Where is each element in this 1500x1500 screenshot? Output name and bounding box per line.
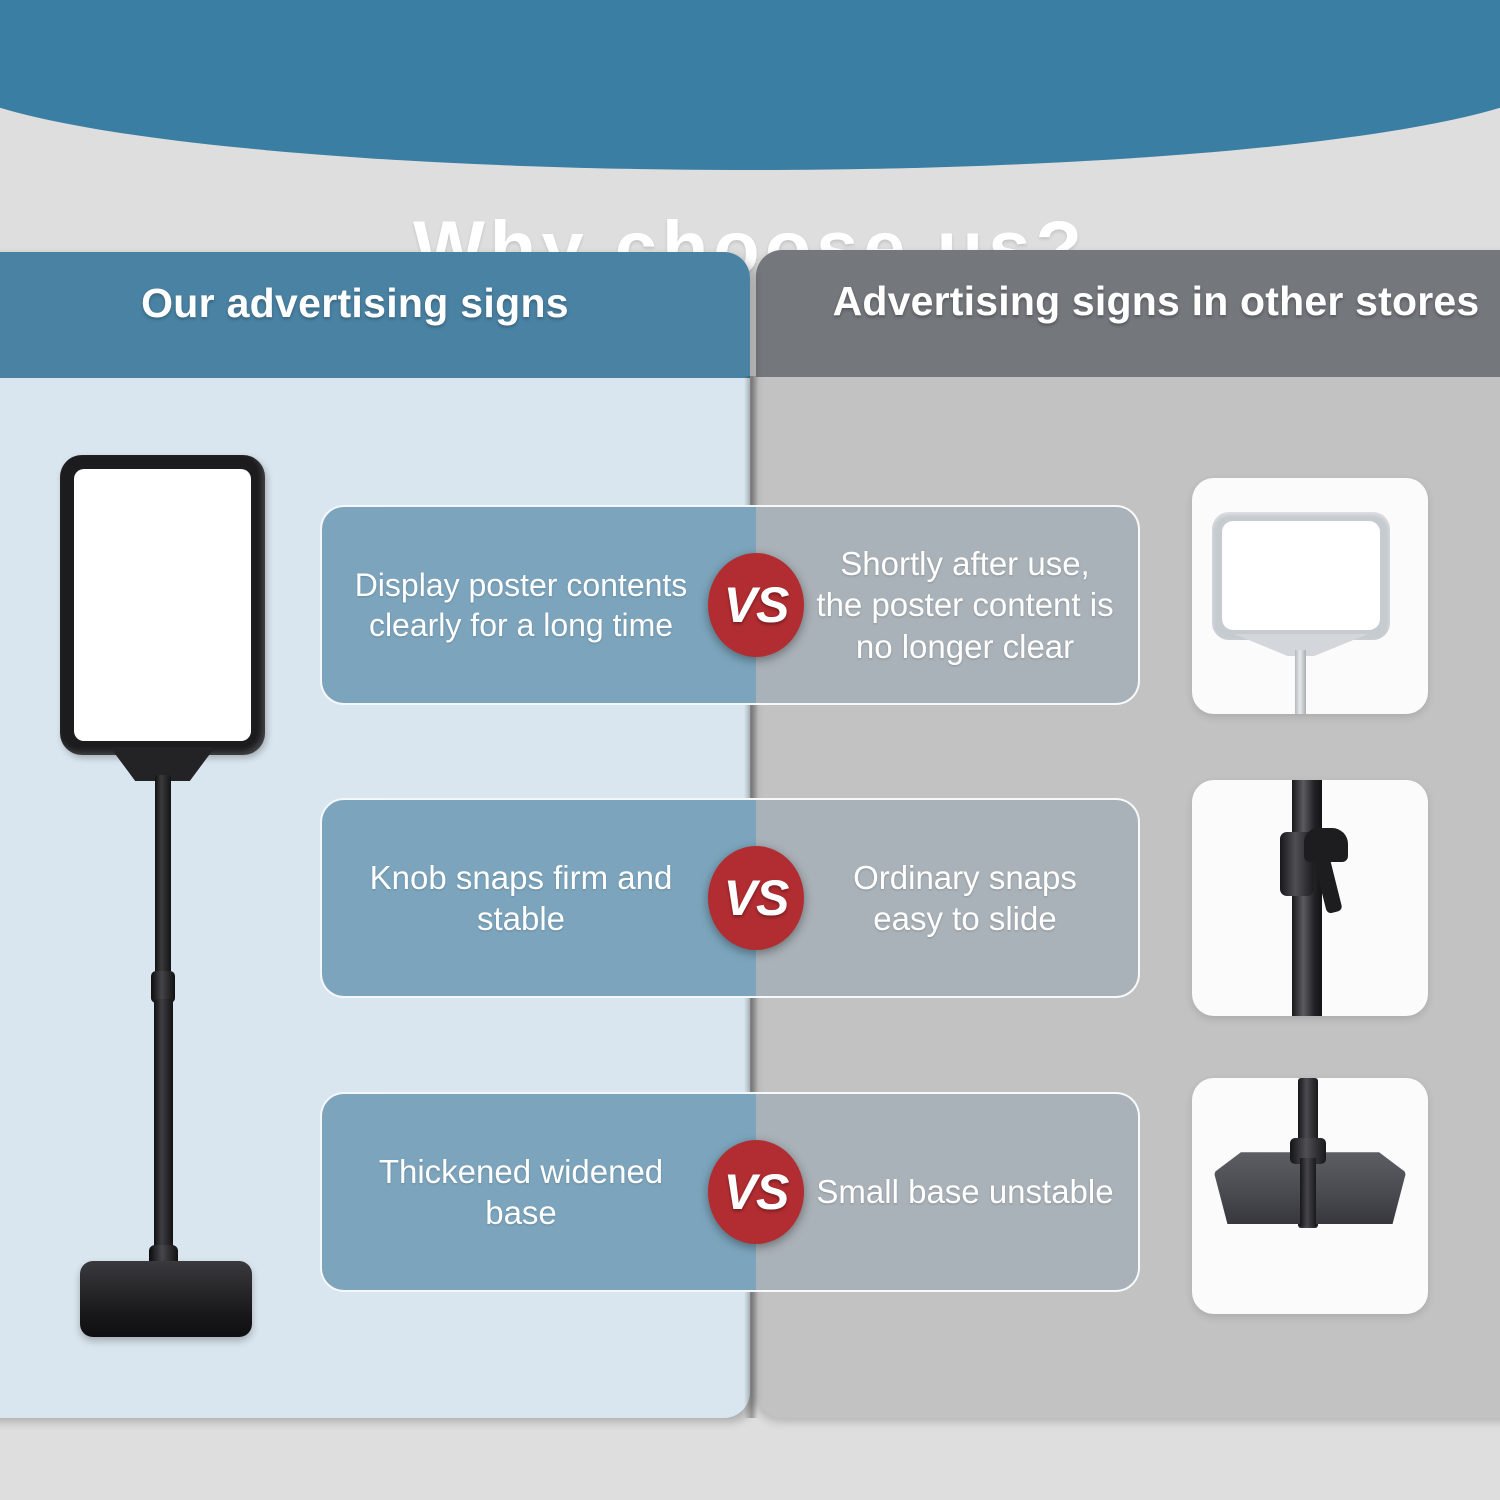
vs-label: VS: [724, 1163, 789, 1221]
other-drawback-text: Shortly after use, the poster content is…: [814, 543, 1116, 667]
other-drawback-card: Small base unstable: [756, 1092, 1140, 1292]
comparison-row: Display poster contents clearly for a lo…: [320, 505, 1140, 705]
other-base-thumbnail: [1192, 1078, 1428, 1314]
other-sign-frame: [1212, 512, 1390, 640]
comparison-row: Thickened widened base Small base unstab…: [320, 1092, 1140, 1292]
vs-badge: VS: [708, 553, 804, 657]
vs-label: VS: [724, 869, 789, 927]
sign-frame: [60, 455, 265, 755]
vs-badge: VS: [708, 1140, 804, 1244]
pole-lower-section: [154, 999, 173, 1267]
column-other-stores-title: Advertising signs in other stores: [776, 278, 1500, 325]
our-benefit-card: Thickened widened base: [320, 1092, 756, 1292]
wide-base-plate: [80, 1261, 252, 1337]
vs-badge: VS: [708, 846, 804, 950]
comparison-row: Knob snaps firm and stable Ordinary snap…: [320, 798, 1140, 998]
other-sign-frame-thumbnail: [1192, 478, 1428, 714]
other-drawback-card: Shortly after use, the poster content is…: [756, 505, 1140, 705]
other-base-pole-front: [1300, 1158, 1316, 1226]
our-benefit-text: Thickened widened base: [344, 1151, 698, 1234]
product-stand-illustration: [35, 455, 285, 1335]
column-our-signs-header: Our advertising signs: [0, 252, 750, 378]
vs-label: VS: [724, 576, 789, 634]
our-benefit-text: Knob snaps firm and stable: [344, 857, 698, 940]
other-drawback-card: Ordinary snaps easy to slide: [756, 798, 1140, 998]
other-drawback-text: Ordinary snaps easy to slide: [814, 857, 1116, 940]
other-clamp-thumbnail: [1192, 780, 1428, 1016]
other-pole: [1295, 650, 1306, 714]
column-our-signs-title: Our advertising signs: [0, 280, 710, 327]
header-band: [0, 0, 1500, 170]
other-pole-shaft: [1292, 780, 1322, 1016]
other-poster-insert: [1222, 521, 1380, 630]
our-benefit-card: Knob snaps firm and stable: [320, 798, 756, 998]
our-benefit-text: Display poster contents clearly for a lo…: [344, 565, 698, 645]
our-benefit-card: Display poster contents clearly for a lo…: [320, 505, 756, 705]
poster-insert: [74, 469, 251, 741]
other-drawback-text: Small base unstable: [816, 1171, 1113, 1212]
column-other-stores-header: Advertising signs in other stores: [756, 250, 1500, 377]
pole-upper-section: [155, 775, 171, 975]
